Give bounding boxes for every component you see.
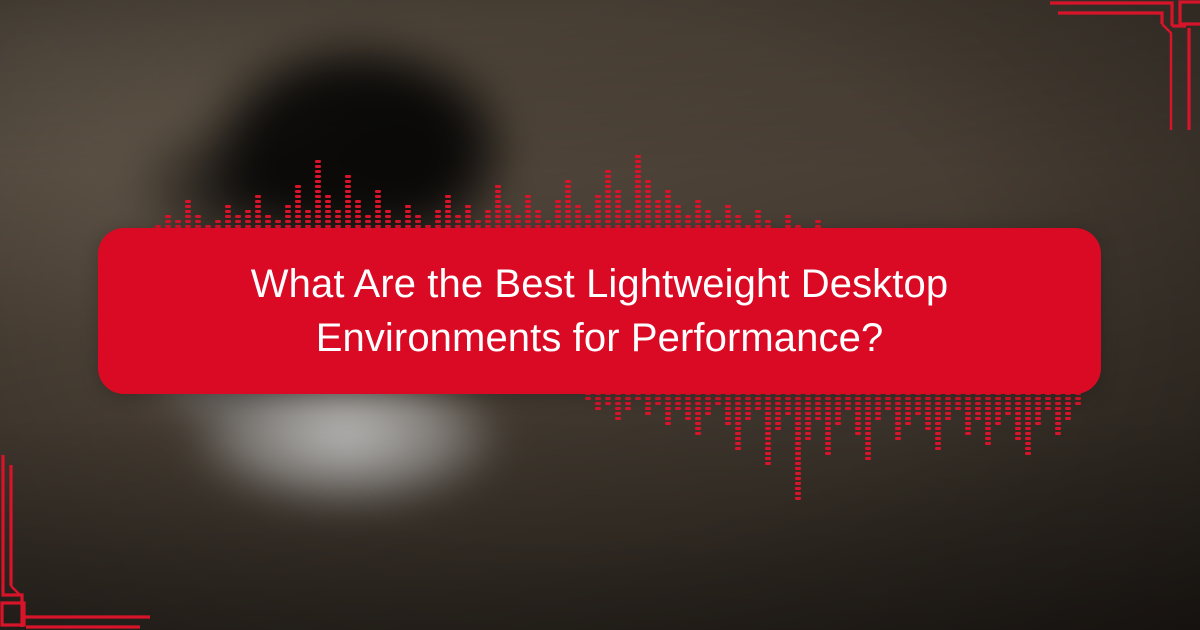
title-banner: What Are the Best Lightweight Desktop En… <box>98 228 1101 394</box>
share-card-canvas: What Are the Best Lightweight Desktop En… <box>0 0 1200 630</box>
page-title: What Are the Best Lightweight Desktop En… <box>162 257 1038 366</box>
